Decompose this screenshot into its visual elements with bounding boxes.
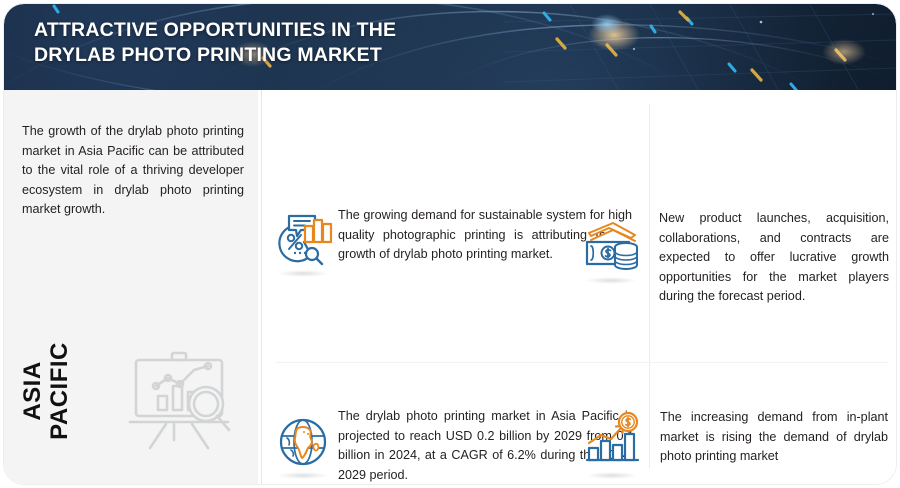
page-title: Attractive opportunities in the drylab p… — [34, 18, 464, 68]
header-banner: Attractive opportunities in the drylab p… — [4, 4, 896, 90]
infographic-card: Attractive opportunities in the drylab p… — [4, 4, 896, 484]
icon-shadow — [277, 270, 329, 277]
icon-shadow — [586, 472, 638, 479]
globe-icon — [271, 410, 335, 474]
insight-text-4: The increasing demand from in-plant mark… — [660, 408, 888, 467]
region-block: ASIA PACIFIC — [4, 320, 258, 480]
panel-divider — [261, 90, 262, 484]
icon-shadow — [277, 472, 329, 479]
money-cash-coins-icon — [579, 215, 643, 279]
column-divider — [649, 104, 650, 468]
left-panel-paragraph: The growth of the drylab photo printing … — [22, 122, 244, 220]
icon-shadow — [585, 277, 637, 284]
report-analytics-icon — [271, 208, 335, 272]
content-area: The growth of the drylab photo printing … — [4, 90, 896, 484]
insight-text-2: New product launches, acquisition, colla… — [659, 209, 889, 307]
growth-bar-chart-dollar-icon — [580, 410, 644, 474]
presentation-chart-magnifier-icon — [122, 344, 242, 454]
region-label: ASIA PACIFIC — [19, 326, 73, 456]
row-divider — [276, 362, 888, 363]
left-summary-panel: The growth of the drylab photo printing … — [4, 90, 258, 484]
